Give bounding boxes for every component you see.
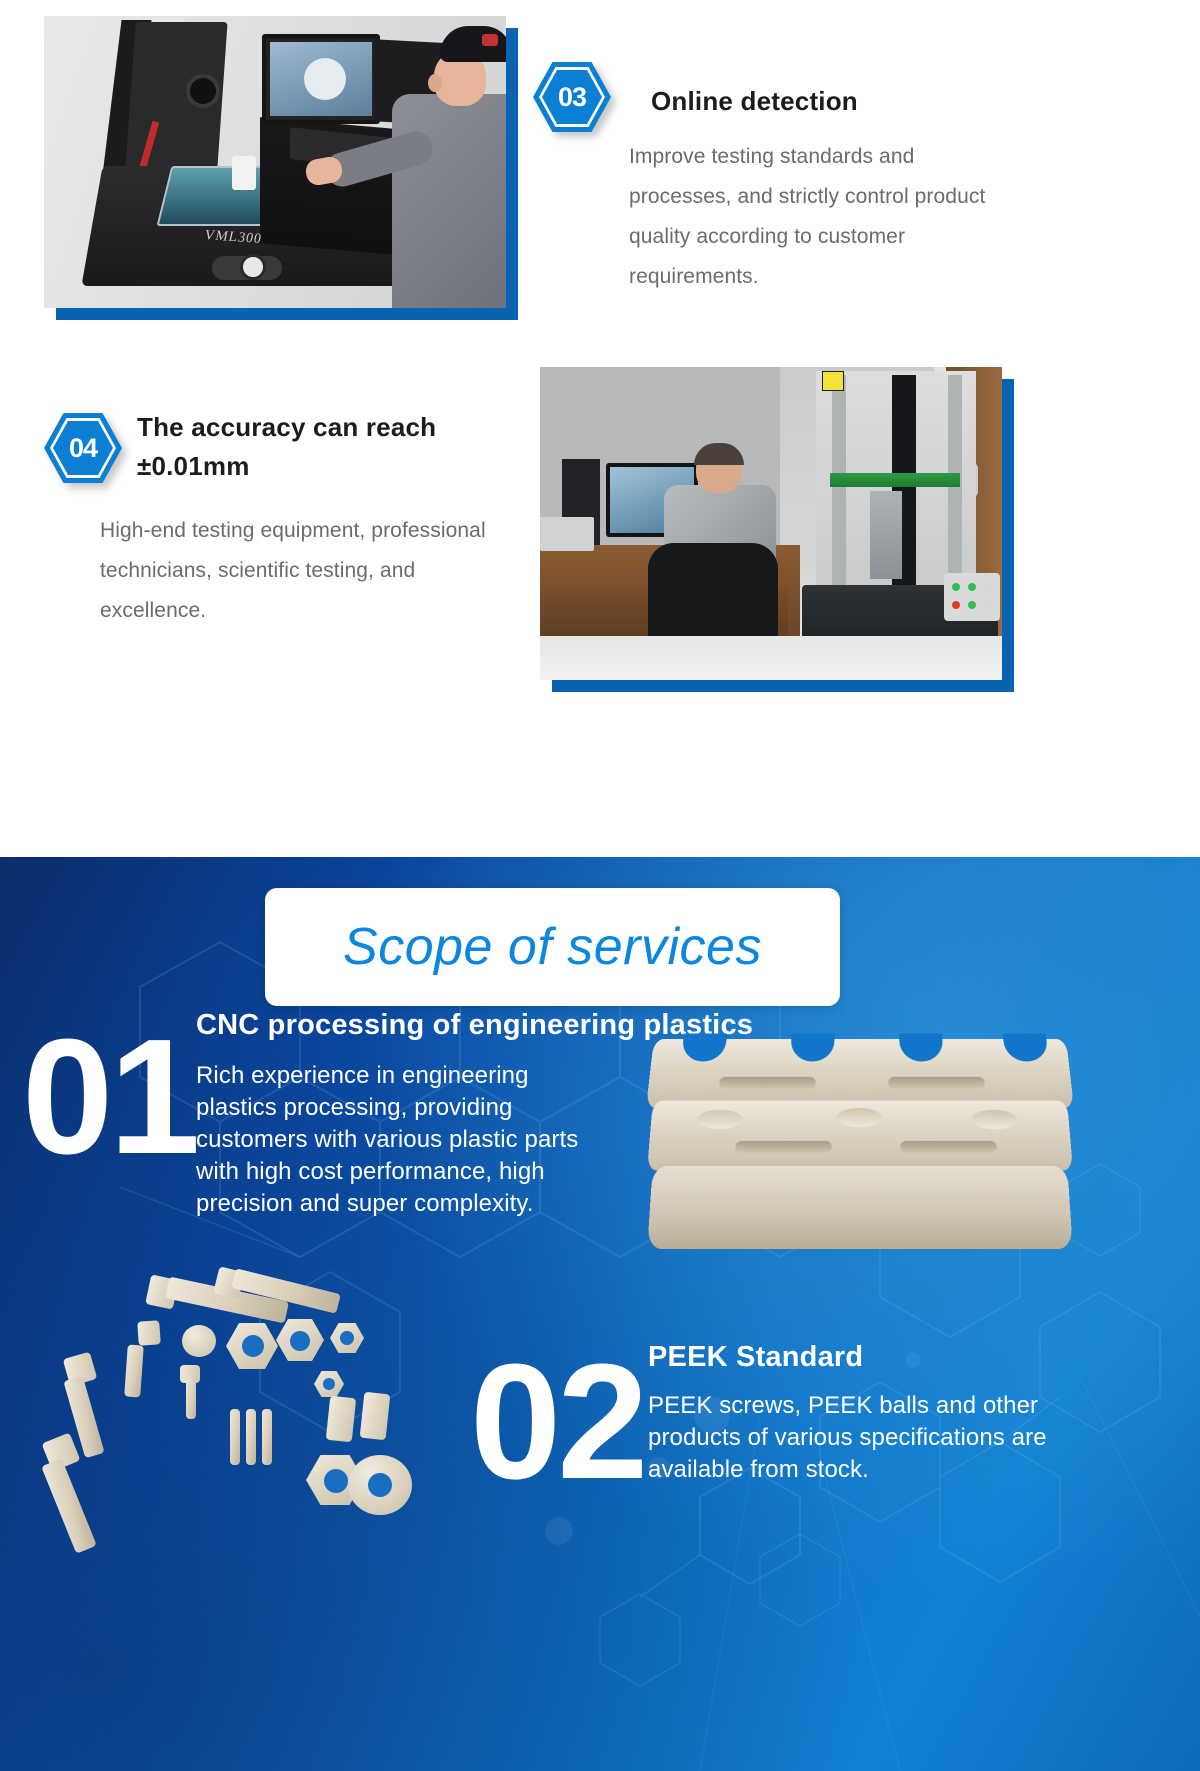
service-body-02: PEEK screws, PEEK balls and other produc…	[648, 1390, 1048, 1486]
screw-shank	[186, 1379, 196, 1419]
feature-body-03: Improve testing standards and processes,…	[629, 137, 1019, 297]
chain-slot	[735, 1141, 832, 1153]
screw-shank	[246, 1409, 256, 1465]
warning-label-icon	[822, 371, 844, 391]
testing-lab-scene	[540, 367, 1002, 680]
bolt-head	[137, 1320, 161, 1345]
washer	[182, 1325, 216, 1357]
chain-row-top	[646, 1039, 1074, 1108]
optical-measuring-scene: VML300	[44, 16, 506, 308]
feature-title-04: The accuracy can reach ±0.01mm	[137, 408, 497, 486]
chain-dimple	[971, 1110, 1018, 1129]
printer	[540, 517, 594, 551]
service-number-02: 02	[470, 1340, 644, 1504]
photo-online-detection-image: VML300	[44, 16, 506, 308]
led-red	[952, 601, 960, 609]
chain-slot	[888, 1077, 985, 1089]
control-panel	[944, 573, 1000, 621]
nut-hole	[290, 1331, 310, 1351]
chain-notch	[1003, 1034, 1049, 1062]
focus-knob	[190, 78, 216, 104]
chain-row-middle	[647, 1100, 1073, 1170]
scope-of-services-heading: Scope of services	[343, 917, 762, 977]
service-body-01: Rich experience in engineering plastics …	[196, 1060, 614, 1220]
online-detection-photo: VML300	[44, 16, 506, 308]
cap-badge	[482, 34, 498, 46]
photo-testing-lab-image	[540, 367, 1002, 680]
led-off	[984, 583, 992, 591]
feature-badge-03: 03	[533, 62, 611, 132]
led-green-2	[968, 583, 976, 591]
peek-fasteners-image	[30, 1267, 430, 1557]
service-title-02: PEEK Standard	[648, 1341, 1068, 1374]
chain-notch	[681, 1034, 727, 1062]
bolt-shank	[41, 1458, 97, 1553]
service-number-01: 01	[22, 1015, 196, 1179]
bolt-shank	[124, 1345, 144, 1398]
bolt-shank	[360, 1392, 391, 1440]
specimen-grips	[870, 491, 902, 579]
feature-badge-04: 04	[44, 413, 122, 483]
nut-hole	[323, 1378, 335, 1390]
bolt-shank	[326, 1396, 356, 1442]
led-green	[952, 583, 960, 591]
operator	[390, 26, 506, 308]
chain-slot	[900, 1141, 997, 1153]
chain-slot	[719, 1077, 816, 1089]
chain-row-bottom	[647, 1166, 1073, 1249]
specimen	[232, 156, 256, 190]
monitor-screen	[270, 42, 372, 116]
chain-dimple	[696, 1110, 743, 1129]
lab-technician	[660, 445, 780, 555]
chain-dimple	[836, 1108, 882, 1127]
screen-measurement-circle	[304, 58, 346, 100]
chain-notch	[790, 1034, 834, 1062]
features-section: VML300 03 Online detection Improve testi…	[0, 0, 1200, 857]
feature-number-04: 04	[44, 413, 122, 483]
green-crosshead-bar	[830, 473, 960, 487]
scope-of-services-section: Scope of services 01 CNC processing of e…	[0, 857, 1200, 1771]
led-green-3	[968, 601, 976, 609]
operator-body	[392, 94, 506, 308]
scope-of-services-card: Scope of services	[265, 888, 840, 1006]
decorative-bubble	[545, 1517, 573, 1545]
nut-hole	[324, 1469, 348, 1493]
feature-body-04: High-end testing equipment, professional…	[100, 511, 525, 631]
screw-shank	[230, 1409, 240, 1465]
led-off-2	[984, 601, 992, 609]
monitor	[262, 34, 380, 124]
feature-number-03: 03	[533, 62, 611, 132]
feature-title-03: Online detection	[651, 82, 1081, 121]
stage-wheel	[240, 254, 266, 280]
machine-head	[124, 22, 227, 182]
accuracy-photo	[540, 367, 1002, 680]
operator-ear	[428, 74, 442, 92]
screw-shank	[262, 1409, 272, 1465]
technician-hair	[694, 443, 744, 465]
nut-hole	[340, 1331, 354, 1345]
nut-hole	[242, 1335, 264, 1357]
peek-chain-part-image	[650, 1037, 1070, 1267]
chain-notch	[899, 1034, 943, 1062]
floor	[540, 636, 1002, 680]
washer-hole	[368, 1473, 392, 1497]
